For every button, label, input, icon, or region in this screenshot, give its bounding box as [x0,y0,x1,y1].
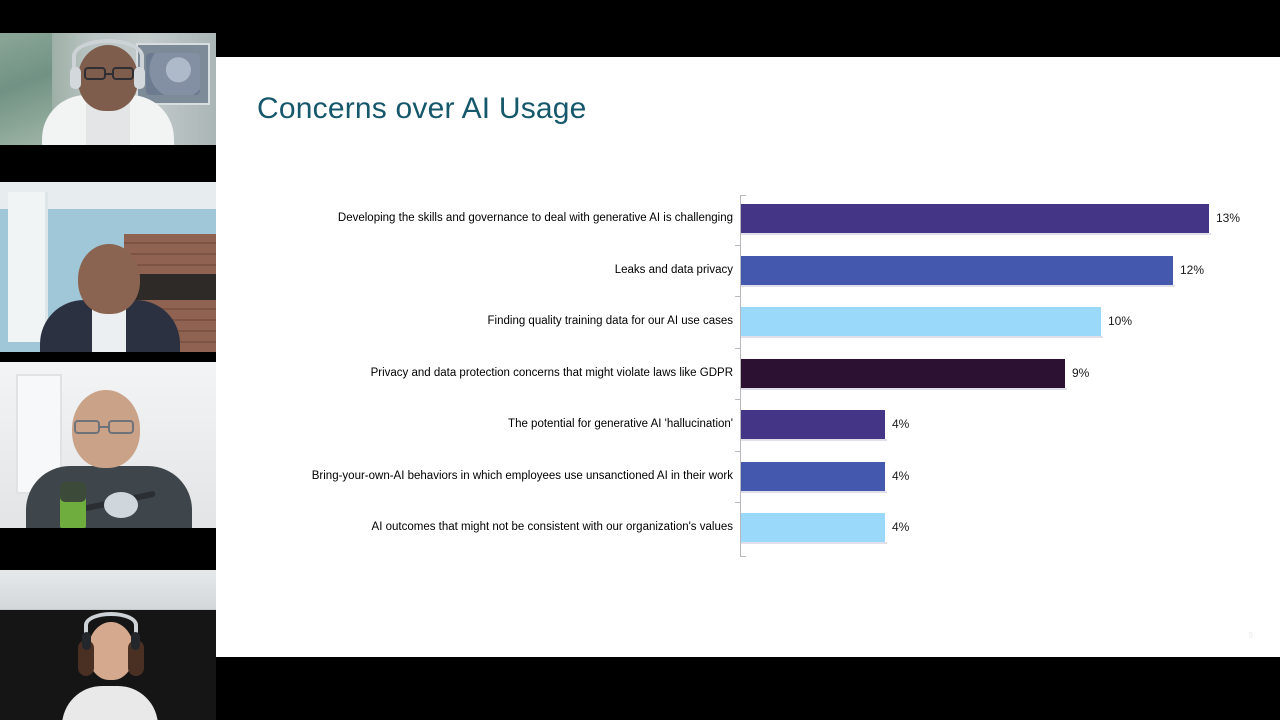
axis-tick [735,502,740,503]
bar [741,462,885,491]
participant-tile-2[interactable] [0,178,216,356]
bar-value-label: 9% [1072,359,1089,388]
bar-value-label: 10% [1108,307,1132,336]
bar-value-label: 12% [1180,256,1204,285]
bar [741,359,1065,388]
presentation-slide: Concerns over AI Usage Developing the sk… [216,57,1280,657]
bar [741,307,1101,336]
screen: Concerns over AI Usage Developing the sk… [0,0,1280,720]
participant-tile-3[interactable] [0,356,216,534]
avatar [78,244,140,314]
wall-art [136,43,210,105]
bar-category-label: Bring-your-own-AI behaviors in which emp… [233,470,733,482]
slide-number: 9 [1249,631,1253,640]
participant-tile-1[interactable] [0,0,216,178]
axis-tick [735,245,740,246]
axis-tick [735,296,740,297]
bar-value-label: 4% [892,462,909,491]
axis-tick [735,399,740,400]
bar-value-label: 4% [892,410,909,439]
bar-chart: Developing the skills and governance to … [216,57,1280,657]
bar-category-label: Developing the skills and governance to … [233,212,733,224]
glasses-icon [84,67,106,80]
bar [741,410,885,439]
bar-category-label: The potential for generative AI 'halluci… [233,418,733,430]
bar [741,513,885,542]
y-axis-cap-top [740,195,746,196]
video-filmstrip [0,0,216,720]
bar-value-label: 13% [1216,204,1240,233]
bar [741,204,1209,233]
bar-category-label: AI outcomes that might not be consistent… [233,521,733,533]
glasses-icon [74,420,100,434]
bar-value-label: 4% [892,513,909,542]
participant-tile-4[interactable] [0,534,216,720]
axis-tick [735,451,740,452]
top-black-band [216,0,1280,57]
headset-icon [84,612,138,638]
bar [741,256,1173,285]
bar-category-label: Leaks and data privacy [233,264,733,276]
bottom-black-band [216,657,1280,720]
y-axis-cap-bottom [740,556,746,557]
axis-tick [735,348,740,349]
bar-category-label: Privacy and data protection concerns tha… [233,367,733,379]
bar-category-label: Finding quality training data for our AI… [233,315,733,327]
